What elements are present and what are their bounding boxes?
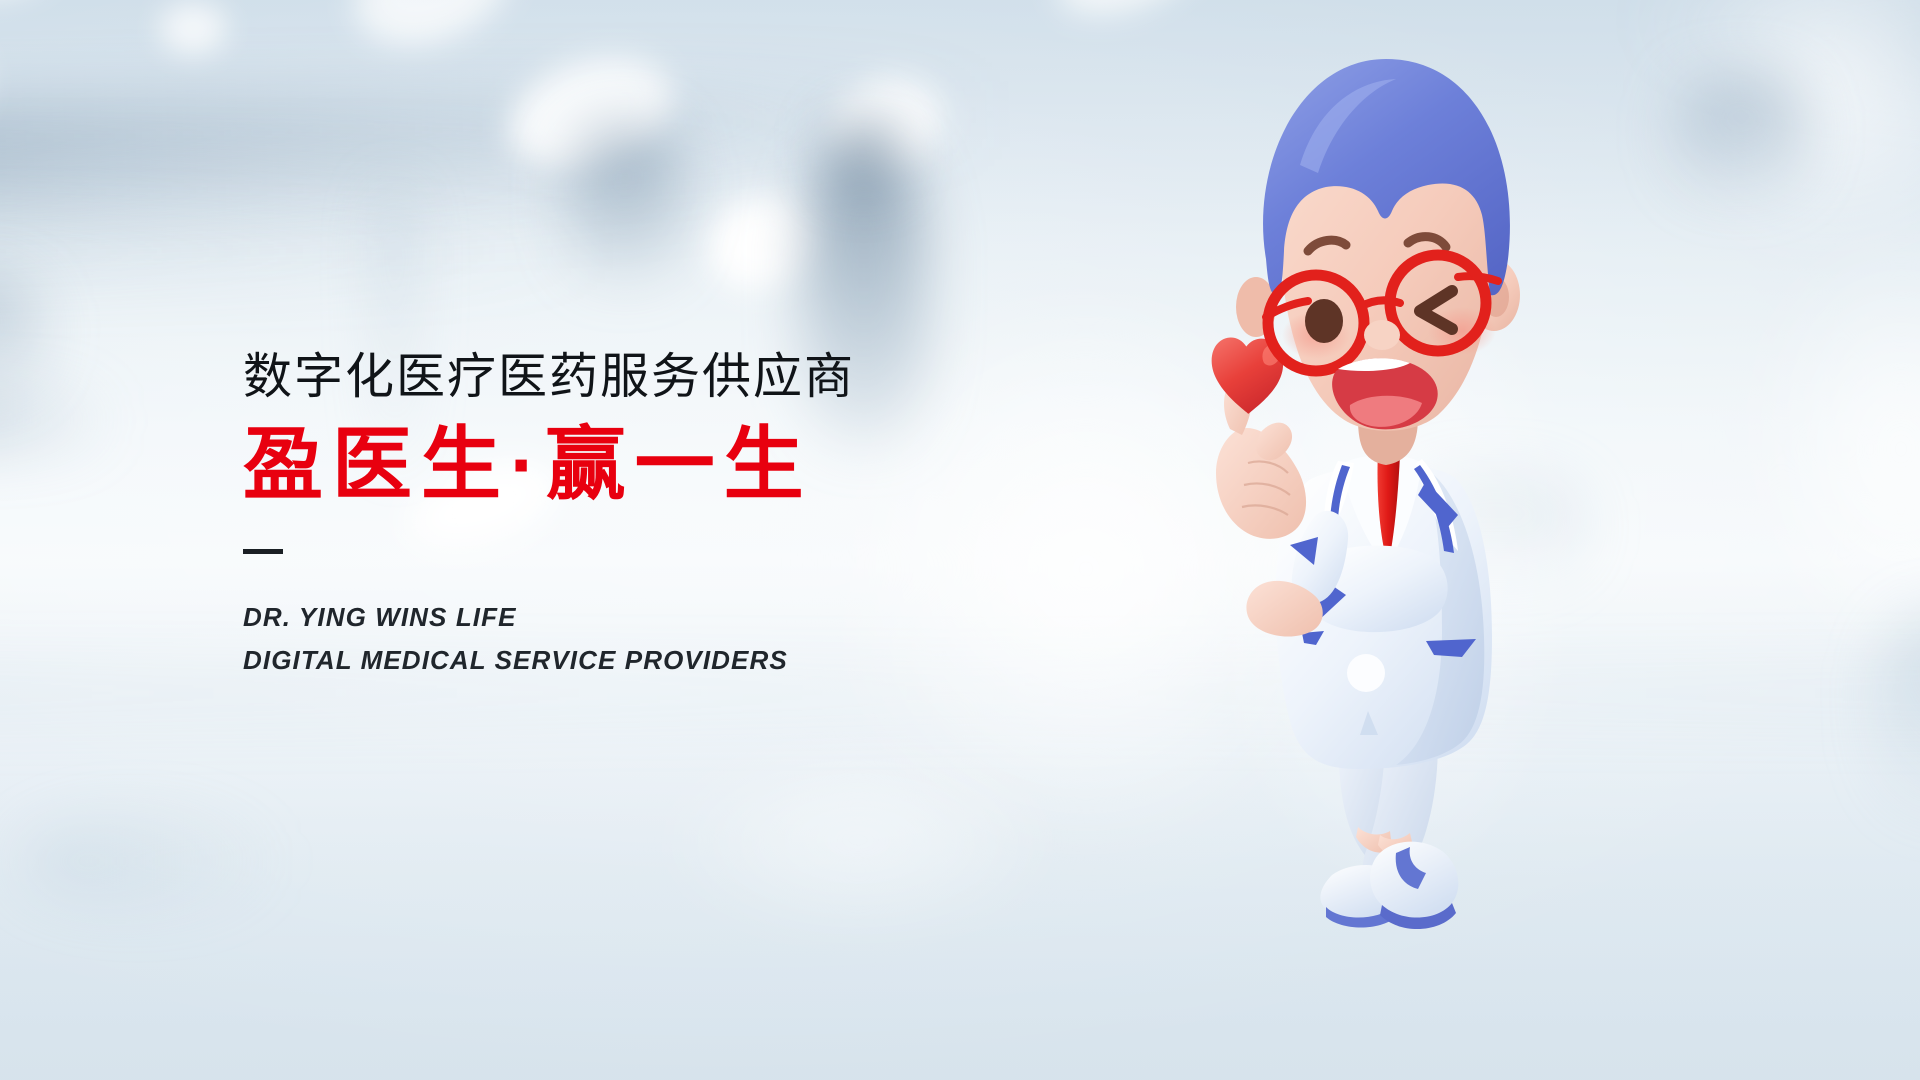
background-reflection-floor bbox=[648, 740, 1068, 940]
ceiling-lamp-bokeh bbox=[158, 1, 228, 55]
background-frame-right bbox=[1676, 76, 1806, 196]
ceiling-lamp-bokeh bbox=[333, 0, 532, 70]
hero-latin-block: DR. YING WINS LIFE DIGITAL MEDICAL SERVI… bbox=[243, 596, 1083, 680]
background-shelf-left bbox=[0, 277, 41, 397]
hero-subheadline-cn: 数字化医疗医药服务供应商 bbox=[243, 352, 1083, 403]
background-desk-left bbox=[0, 390, 103, 450]
ceiling-lamp-bokeh bbox=[1039, 0, 1230, 39]
background-floor-streak-left bbox=[25, 816, 285, 906]
hero-banner: 数字化医疗医药服务供应商 盈医生·赢一生 DR. YING WINS LIFE … bbox=[0, 0, 1920, 1080]
hero-latin-line-2: DIGITAL MEDICAL SERVICE PROVIDERS bbox=[243, 639, 1083, 681]
eye-open-left bbox=[1305, 299, 1343, 343]
hero-copy-block: 数字化医疗医药服务供应商 盈医生·赢一生 DR. YING WINS LIFE … bbox=[243, 352, 1083, 681]
coat-button-bottom bbox=[1347, 654, 1385, 692]
background-person-head bbox=[831, 120, 895, 184]
hero-headline-cn: 盈医生·赢一生 bbox=[243, 423, 1083, 507]
ceiling-band-left-2 bbox=[0, 157, 827, 222]
window-glow-right-lower bbox=[1751, 239, 1920, 659]
hero-latin-line-1: DR. YING WINS LIFE bbox=[243, 596, 1083, 638]
nose bbox=[1364, 320, 1400, 350]
mid-band-left bbox=[0, 233, 626, 271]
doctor-mascot-illustration bbox=[1190, 45, 1620, 1045]
hero-divider-rule bbox=[243, 549, 283, 554]
background-cabinet-dark bbox=[570, 127, 680, 277]
ceiling-lamp-bokeh bbox=[0, 0, 74, 11]
